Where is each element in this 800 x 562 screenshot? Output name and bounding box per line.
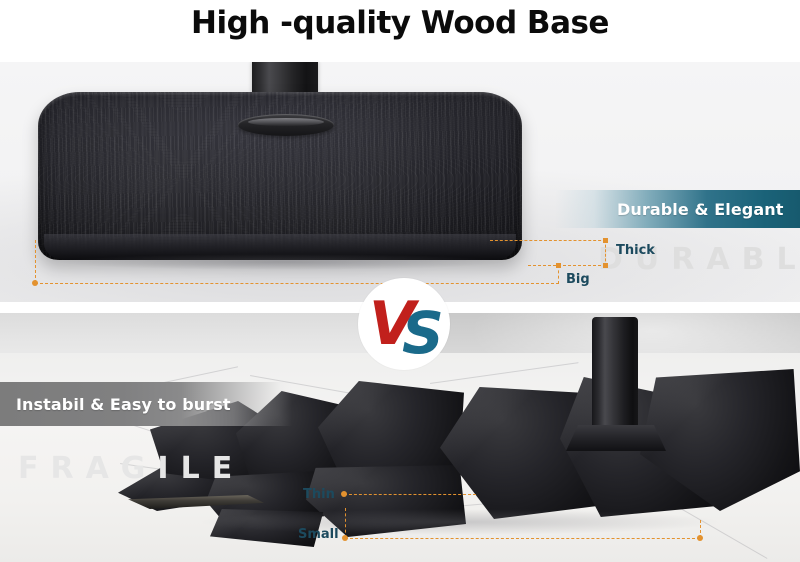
big-right-node	[556, 263, 561, 268]
thick-label: Thick	[616, 243, 655, 258]
broken-stand-pole	[592, 317, 638, 439]
good-product-panel: Durable & Elegant DURABLE	[0, 62, 800, 302]
big-left-vertical-line	[35, 240, 36, 283]
thick-bottom-line	[528, 265, 606, 266]
page-title: High -quality Wood Base	[0, 0, 800, 50]
fragile-watermark: FRAGILE	[18, 451, 244, 486]
bad-side-banner: Instabil & Easy to burst	[0, 382, 292, 426]
wood-base-shadow	[58, 254, 506, 270]
big-label: Big	[566, 272, 590, 287]
small-right-node	[697, 535, 703, 541]
vs-badge: V S	[358, 278, 450, 370]
thick-top-node	[603, 238, 608, 243]
small-label: Small	[298, 527, 339, 542]
thin-label: Thin	[303, 487, 335, 502]
thin-line	[344, 494, 476, 495]
small-left-vertical-line	[345, 508, 346, 538]
thick-top-line	[490, 240, 606, 241]
vs-letter-v: V	[369, 294, 415, 354]
glass-base-shadow	[200, 509, 720, 535]
broken-stand-pole-foot	[566, 425, 666, 451]
thin-node	[341, 491, 347, 497]
pole-collar-highlight	[248, 118, 324, 126]
big-left-node	[32, 280, 38, 286]
thick-bottom-node	[603, 263, 608, 268]
product-comparison-infographic: High -quality Wood Base Durable & Elegan…	[0, 0, 800, 562]
small-horizontal-line	[345, 538, 700, 539]
good-side-banner: Durable & Elegant	[555, 190, 800, 228]
good-side-banner-label: Durable & Elegant	[617, 200, 784, 219]
big-horizontal-line	[35, 283, 559, 284]
small-left-node	[342, 535, 348, 541]
bad-side-banner-label: Instabil & Easy to burst	[16, 395, 231, 414]
